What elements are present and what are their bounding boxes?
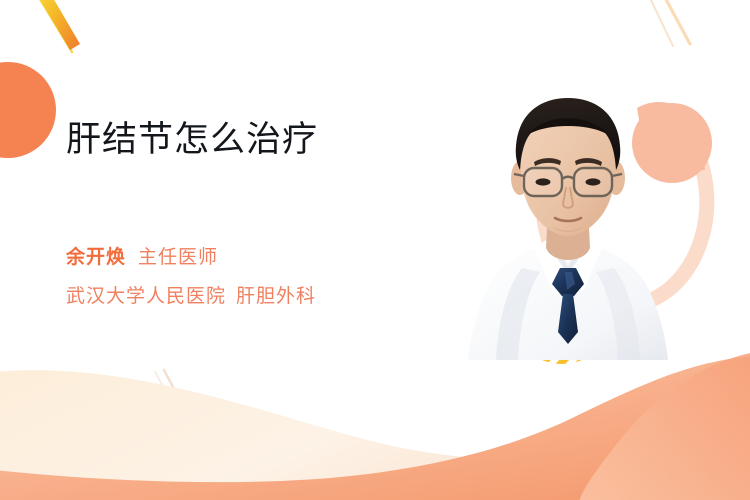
doctor-portrait: [462, 92, 674, 360]
doctor-name: 余开焕: [66, 247, 126, 268]
doctor-affiliation: 武汉大学人民医院肝胆外科: [66, 287, 316, 307]
video-cover-card: 肝结节怎么治疗 余开焕主任医师 武汉大学人民医院肝胆外科: [0, 0, 750, 500]
doctor-professional-title: 主任医师: [138, 247, 218, 268]
eye-right: [586, 178, 601, 185]
left-orange-circle: [0, 62, 56, 158]
doctor-byline: 余开焕主任医师: [66, 248, 218, 268]
eye-left: [536, 178, 551, 185]
department-name: 肝胆外科: [236, 286, 316, 307]
top-right-diagonal-faint-line-b: [662, 0, 690, 44]
page-title: 肝结节怎么治疗: [66, 118, 318, 162]
top-left-diagonal-thick-line: [36, 0, 80, 50]
hospital-name: 武汉大学人民医院: [66, 286, 226, 307]
